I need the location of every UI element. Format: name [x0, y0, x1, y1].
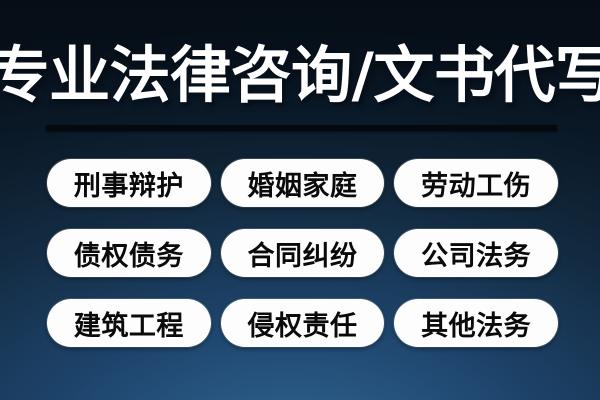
poster-canvas: 专业法律咨询/文书代写 刑事辩护 婚姻家庭 劳动工伤 债权债务 合同纠纷 公司法…: [0, 0, 600, 400]
service-pill-other-legal[interactable]: 其他法务: [394, 299, 558, 347]
service-pill-grid: 刑事辩护 婚姻家庭 劳动工伤 债权债务 合同纠纷 公司法务 建筑工程 侵权责任 …: [47, 159, 558, 347]
service-pill-tort-liability[interactable]: 侵权责任: [221, 299, 385, 347]
service-pill-contract-dispute[interactable]: 合同纠纷: [221, 229, 385, 277]
pill-row: 债权债务 合同纠纷 公司法务: [47, 229, 558, 277]
pill-row: 建筑工程 侵权责任 其他法务: [47, 299, 558, 347]
service-pill-criminal-defense[interactable]: 刑事辩护: [47, 159, 211, 207]
service-pill-corporate-legal[interactable]: 公司法务: [394, 229, 558, 277]
title-divider: [46, 125, 557, 131]
service-pill-marriage-family[interactable]: 婚姻家庭: [221, 159, 385, 207]
page-title: 专业法律咨询/文书代写: [46, 32, 558, 118]
service-pill-construction-engineering[interactable]: 建筑工程: [47, 299, 211, 347]
poster-content: 专业法律咨询/文书代写 刑事辩护 婚姻家庭 劳动工伤 债权债务 合同纠纷 公司法…: [0, 0, 600, 400]
pill-row: 刑事辩护 婚姻家庭 劳动工伤: [47, 159, 558, 207]
service-pill-debt-claims[interactable]: 债权债务: [47, 229, 211, 277]
service-pill-labor-injury[interactable]: 劳动工伤: [394, 159, 558, 207]
